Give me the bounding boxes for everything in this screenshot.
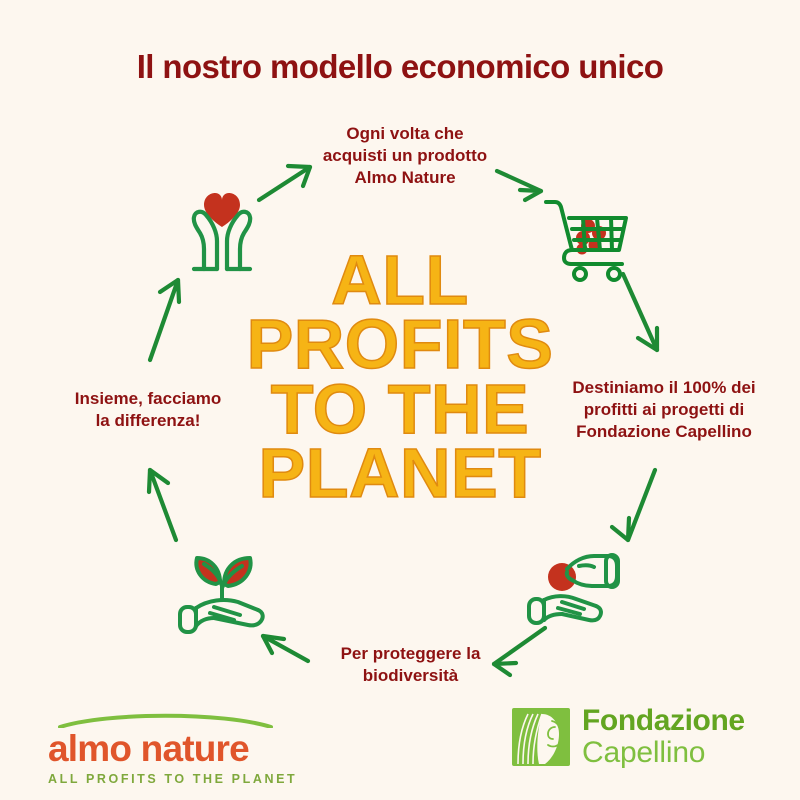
caption-line: Destiniamo il 100% dei bbox=[548, 377, 780, 399]
headline-line-2: PROFITS bbox=[235, 312, 565, 376]
arrow-together-to-heart bbox=[150, 280, 179, 360]
fondazione-line-1: Fondazione bbox=[582, 706, 745, 736]
center-headline: ALL PROFITS TO THE PLANET bbox=[235, 248, 565, 506]
hands-holding-heart-icon bbox=[170, 183, 274, 280]
caption-line: biodiversità bbox=[303, 665, 518, 687]
almo-nature-logo: almo nature ALL PROFITS TO THE PLANET bbox=[48, 712, 298, 786]
step-caption-together: Insieme, facciamo la differenza! bbox=[48, 388, 248, 432]
fondazione-face-mark-icon bbox=[512, 708, 570, 766]
step-caption-purchase: Ogni volta che acquisti un prodotto Almo… bbox=[295, 123, 515, 188]
headline-line-1: ALL bbox=[235, 248, 565, 312]
caption-line: acquisti un prodotto bbox=[295, 145, 515, 167]
almo-nature-tagline: ALL PROFITS TO THE PLANET bbox=[48, 772, 298, 786]
infographic-canvas: Il nostro modello economico unico bbox=[0, 0, 800, 800]
caption-line: Ogni volta che bbox=[295, 123, 515, 145]
caption-line: Insieme, facciamo bbox=[48, 388, 248, 410]
fondazione-capellino-logo: Fondazione Capellino bbox=[512, 706, 745, 768]
almo-nature-wordmark: almo nature bbox=[48, 730, 298, 767]
headline-line-3: TO THE bbox=[235, 377, 565, 441]
fondazione-wordmark: Fondazione Capellino bbox=[582, 706, 745, 768]
step-caption-biodiversity: Per proteggere la biodiversità bbox=[303, 643, 518, 687]
step-caption-profits: Destiniamo il 100% dei profitti ai proge… bbox=[548, 377, 780, 442]
arrow-profits-to-give bbox=[612, 470, 655, 540]
caption-line: Per proteggere la bbox=[303, 643, 518, 665]
caption-line: la differenza! bbox=[48, 410, 248, 432]
caption-line: profitti ai progetti di bbox=[548, 399, 780, 421]
arrow-plant-to-together bbox=[149, 470, 176, 540]
caption-line: Almo Nature bbox=[295, 167, 515, 189]
shopping-cart-icon bbox=[538, 188, 642, 289]
almo-arc-icon bbox=[58, 712, 273, 728]
page-title: Il nostro modello economico unico bbox=[0, 48, 800, 86]
caption-line: Fondazione Capellino bbox=[548, 421, 780, 443]
hand-giving-apple-icon bbox=[522, 542, 630, 643]
headline-line-4: PLANET bbox=[235, 441, 565, 505]
hand-holding-plant-icon bbox=[172, 542, 276, 643]
fondazione-line-2: Capellino bbox=[582, 738, 745, 768]
